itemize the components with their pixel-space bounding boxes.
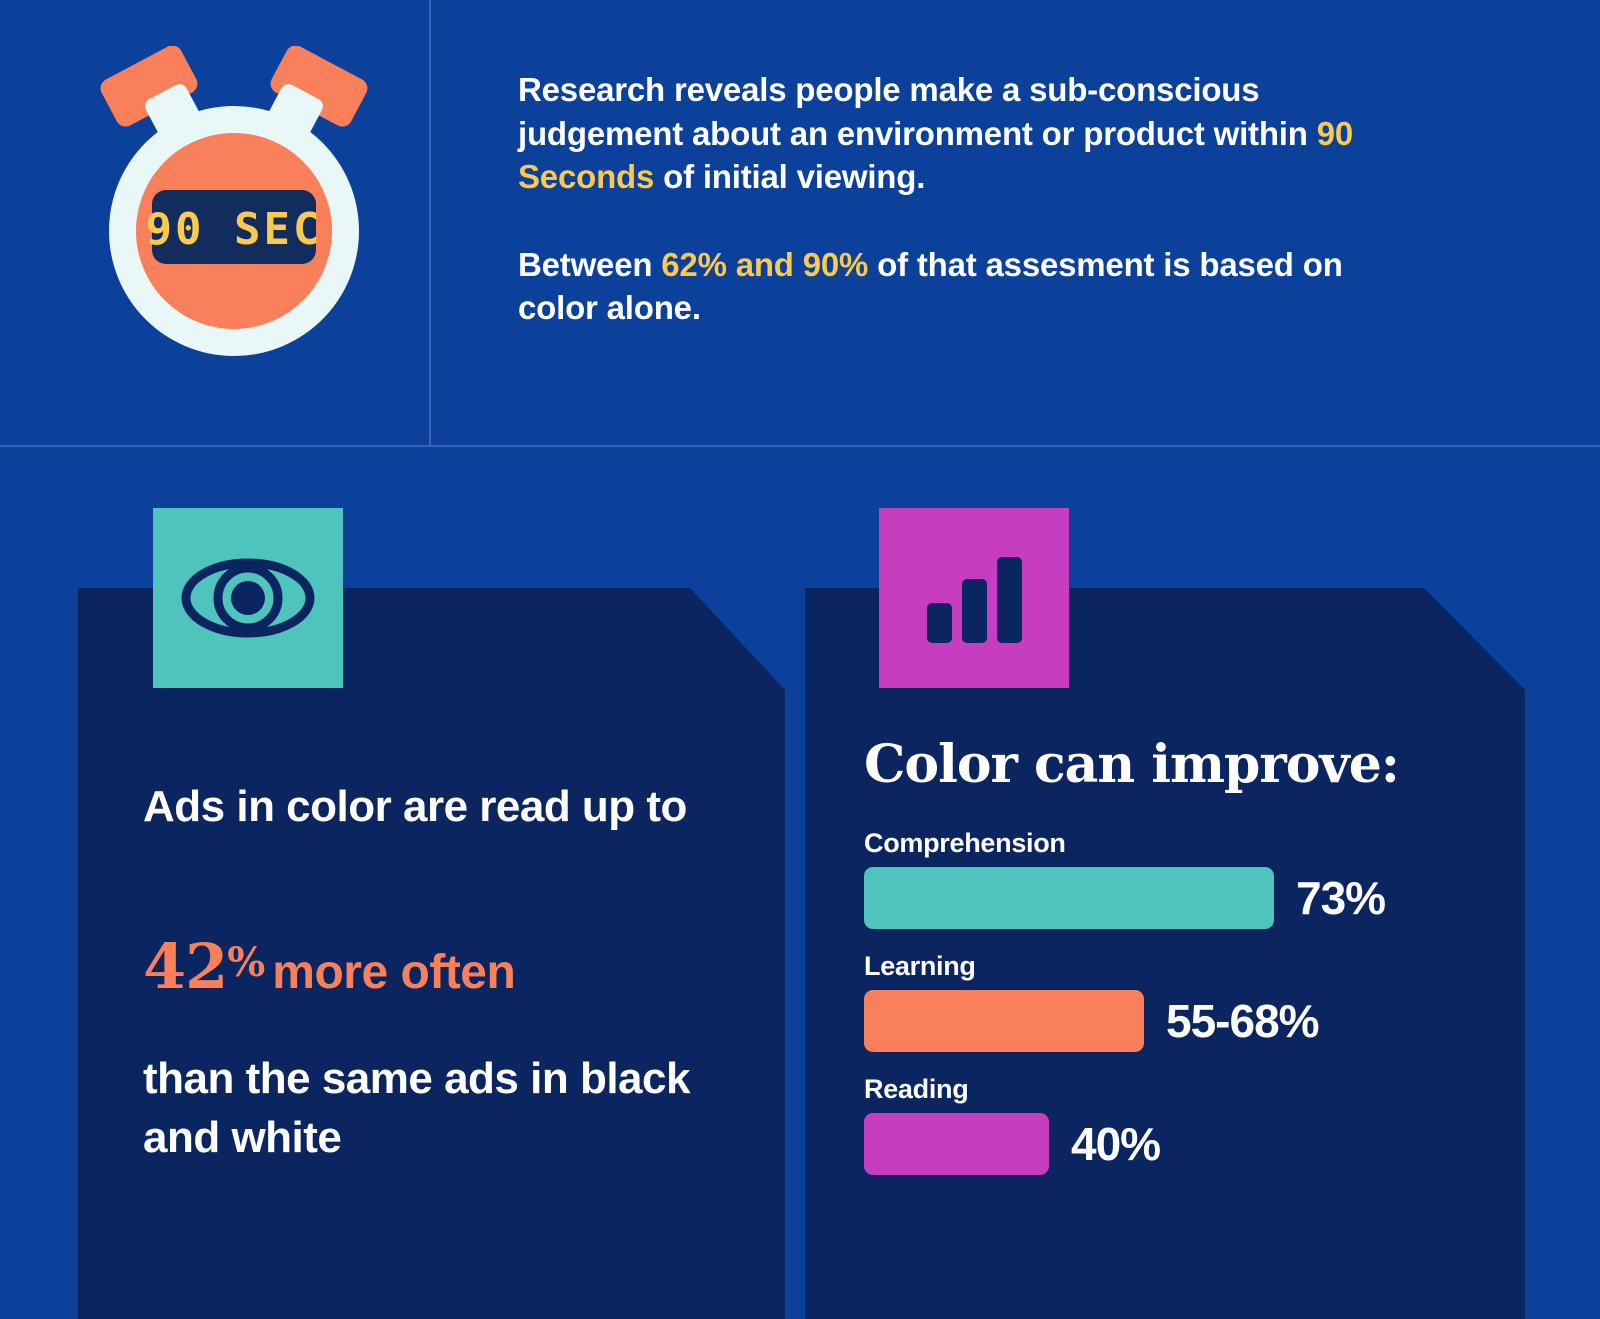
bar-fill-learning (864, 990, 1144, 1052)
eye-icon-tile (153, 508, 343, 688)
chart-title: Color can improve: (864, 734, 1399, 795)
bar-group-learning: Learning 55-68% (864, 951, 1464, 1052)
bar-chart: Comprehension 73% Learning 55-68% Readin… (864, 828, 1464, 1197)
bar-label-comprehension: Comprehension (864, 828, 1464, 859)
ads-headline-line1: Ads in color are read up to (143, 778, 703, 837)
intro-p1-part1: Research reveals people make a sub-consc… (518, 71, 1317, 152)
ads-headline-line2: than the same ads in black and white (143, 1050, 723, 1167)
eye-icon (178, 548, 318, 648)
top-section: 90 SEC Research reveals people make a su… (0, 0, 1600, 447)
bar-group-comprehension: Comprehension 73% (864, 828, 1464, 929)
bar-chart-icon (919, 551, 1029, 646)
bar-value-learning: 55-68% (1166, 994, 1319, 1048)
intro-paragraph-2: Between 62% and 90% of that assesment is… (518, 243, 1418, 330)
intro-p1-part2: of initial viewing. (654, 158, 925, 195)
stopwatch-icon: 90 SEC (84, 46, 384, 356)
bar-label-learning: Learning (864, 951, 1464, 982)
ads-stat-suffix: more often (272, 946, 515, 999)
ads-stat-percent: % (227, 939, 264, 986)
bar-value-reading: 40% (1071, 1117, 1160, 1171)
bar-group-reading: Reading 40% (864, 1074, 1464, 1175)
divider-horizontal (0, 445, 1600, 447)
bar-fill-reading (864, 1113, 1049, 1175)
intro-p2-part1: Between (518, 246, 661, 283)
stopwatch-display-text: 90 SEC (146, 204, 323, 255)
ads-stat-number: 42% (143, 930, 264, 1003)
ads-stat-line: 42%more often (143, 930, 743, 1003)
intro-paragraph-1: Research reveals people make a sub-consc… (518, 68, 1418, 199)
bar-label-reading: Reading (864, 1074, 1464, 1105)
intro-paragraphs: Research reveals people make a sub-consc… (518, 68, 1418, 330)
bar-chart-icon-tile (879, 508, 1069, 688)
bar-fill-comprehension (864, 867, 1274, 929)
intro-p2-highlight: 62% and 90% (661, 246, 868, 283)
bar-value-comprehension: 73% (1296, 871, 1385, 925)
divider-vertical (429, 0, 431, 446)
